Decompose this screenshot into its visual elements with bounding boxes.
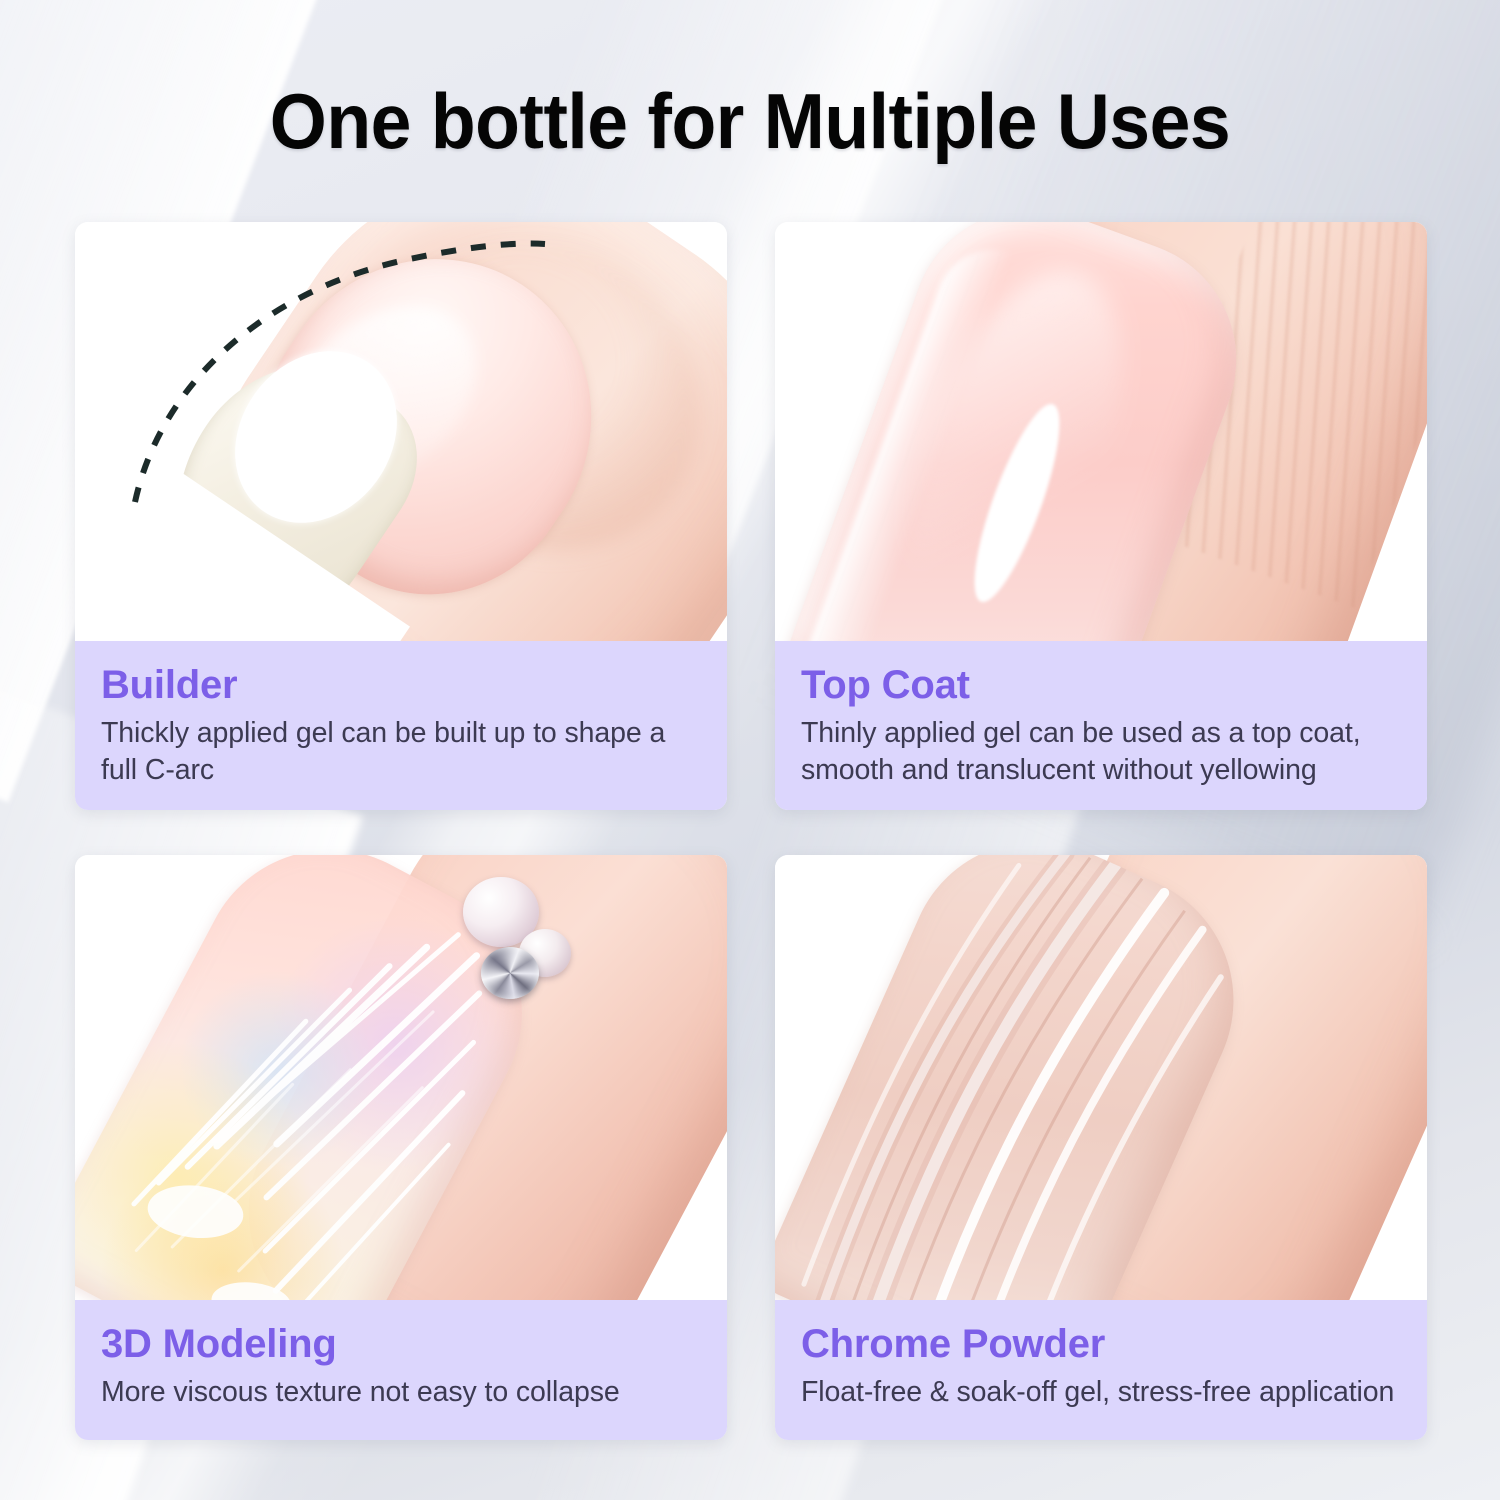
feature-card-chrome-powder[interactable]: Chrome Powder Float-free & soak-off gel,… — [775, 855, 1427, 1440]
feature-card-top-coat[interactable]: Top Coat Thinly applied gel can be used … — [775, 222, 1427, 810]
poster-root: One bottle for Multiple Uses — [0, 0, 1500, 1500]
chrome-body: Float-free & soak-off gel, stress-free a… — [801, 1374, 1401, 1410]
builder-caption: Builder Thickly applied gel can be built… — [75, 641, 727, 810]
feature-card-3d-modeling[interactable]: 3D Modeling More viscous texture not eas… — [75, 855, 727, 1440]
chrome-nail-illustration — [775, 855, 1427, 1300]
builder-nail-illustration — [75, 222, 727, 641]
rhinestone — [481, 947, 539, 999]
top-coat-body: Thinly applied gel can be used as a top … — [801, 715, 1401, 788]
chrome-caption: Chrome Powder Float-free & soak-off gel,… — [775, 1300, 1427, 1440]
modeling-body: More viscous texture not easy to collaps… — [101, 1374, 701, 1410]
page-title: One bottle for Multiple Uses — [45, 76, 1455, 167]
feature-card-builder[interactable]: Builder Thickly applied gel can be built… — [75, 222, 727, 810]
builder-body: Thickly applied gel can be built up to s… — [101, 715, 701, 788]
modeling-photo — [75, 855, 727, 1300]
top-coat-caption: Top Coat Thinly applied gel can be used … — [775, 641, 1427, 810]
chrome-photo — [775, 855, 1427, 1300]
feature-card-grid: Builder Thickly applied gel can be built… — [75, 222, 1427, 1440]
builder-heading: Builder — [101, 665, 701, 705]
c-arc-dashed-guide — [75, 222, 727, 641]
builder-photo — [75, 222, 727, 641]
top-coat-heading: Top Coat — [801, 665, 1401, 705]
modeling-caption: 3D Modeling More viscous texture not eas… — [75, 1300, 727, 1440]
modeling-heading: 3D Modeling — [101, 1324, 701, 1364]
top-coat-nail-illustration — [775, 222, 1427, 641]
chrome-heading: Chrome Powder — [801, 1324, 1401, 1364]
modeling-nail-illustration — [75, 855, 727, 1300]
top-coat-photo — [775, 222, 1427, 641]
